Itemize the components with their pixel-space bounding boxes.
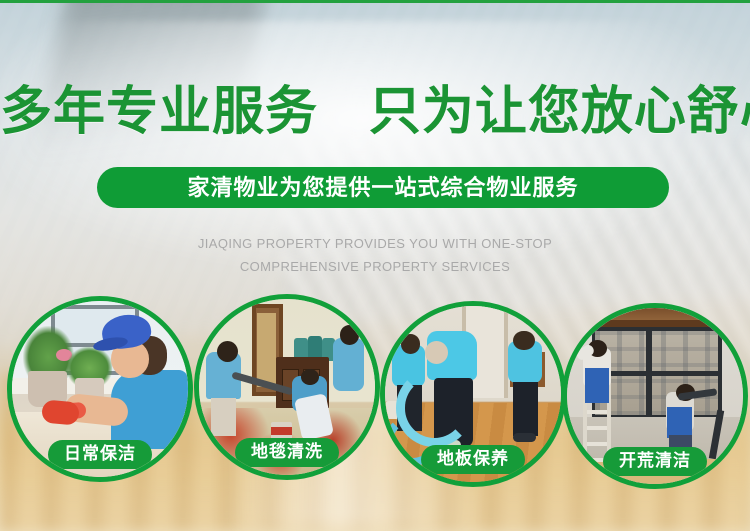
service-circle-carpet-cleaning[interactable]: 地毯清洗	[194, 294, 380, 480]
english-subtitle-line-2: COMPREHENSIVE PROPERTY SERVICES	[0, 255, 750, 278]
service-circle-floor-maintenance[interactable]: 地板保养	[380, 301, 566, 487]
service-circle-post-construction-cleaning[interactable]: 开荒清洁	[562, 303, 748, 489]
service-label: 日常保洁	[48, 440, 152, 469]
english-subtitle: JIAQING PROPERTY PROVIDES YOU WITH ONE-S…	[0, 232, 750, 278]
tagline-text: 家清物业为您提供一站式综合物业服务	[187, 175, 578, 200]
top-accent-rule	[0, 0, 750, 3]
headline-part-2: 只为让您放心舒心	[369, 83, 750, 141]
service-label: 地毯清洗	[235, 438, 339, 467]
tagline-pill-bar: 家清物业为您提供一站式综合物业服务	[97, 167, 669, 208]
page-title: 多年专业服务 只为让您放心舒心	[0, 82, 750, 142]
service-circle-daily-cleaning[interactable]: 日常保洁	[7, 296, 193, 482]
english-subtitle-line-1: JIAQING PROPERTY PROVIDES YOU WITH ONE-S…	[0, 232, 750, 255]
service-label: 开荒清洁	[603, 447, 707, 476]
promo-banner: 多年专业服务 只为让您放心舒心 家清物业为您提供一站式综合物业服务 JIAQIN…	[0, 0, 750, 531]
service-label: 地板保养	[421, 445, 525, 474]
headline-part-1: 多年专业服务	[0, 83, 318, 141]
